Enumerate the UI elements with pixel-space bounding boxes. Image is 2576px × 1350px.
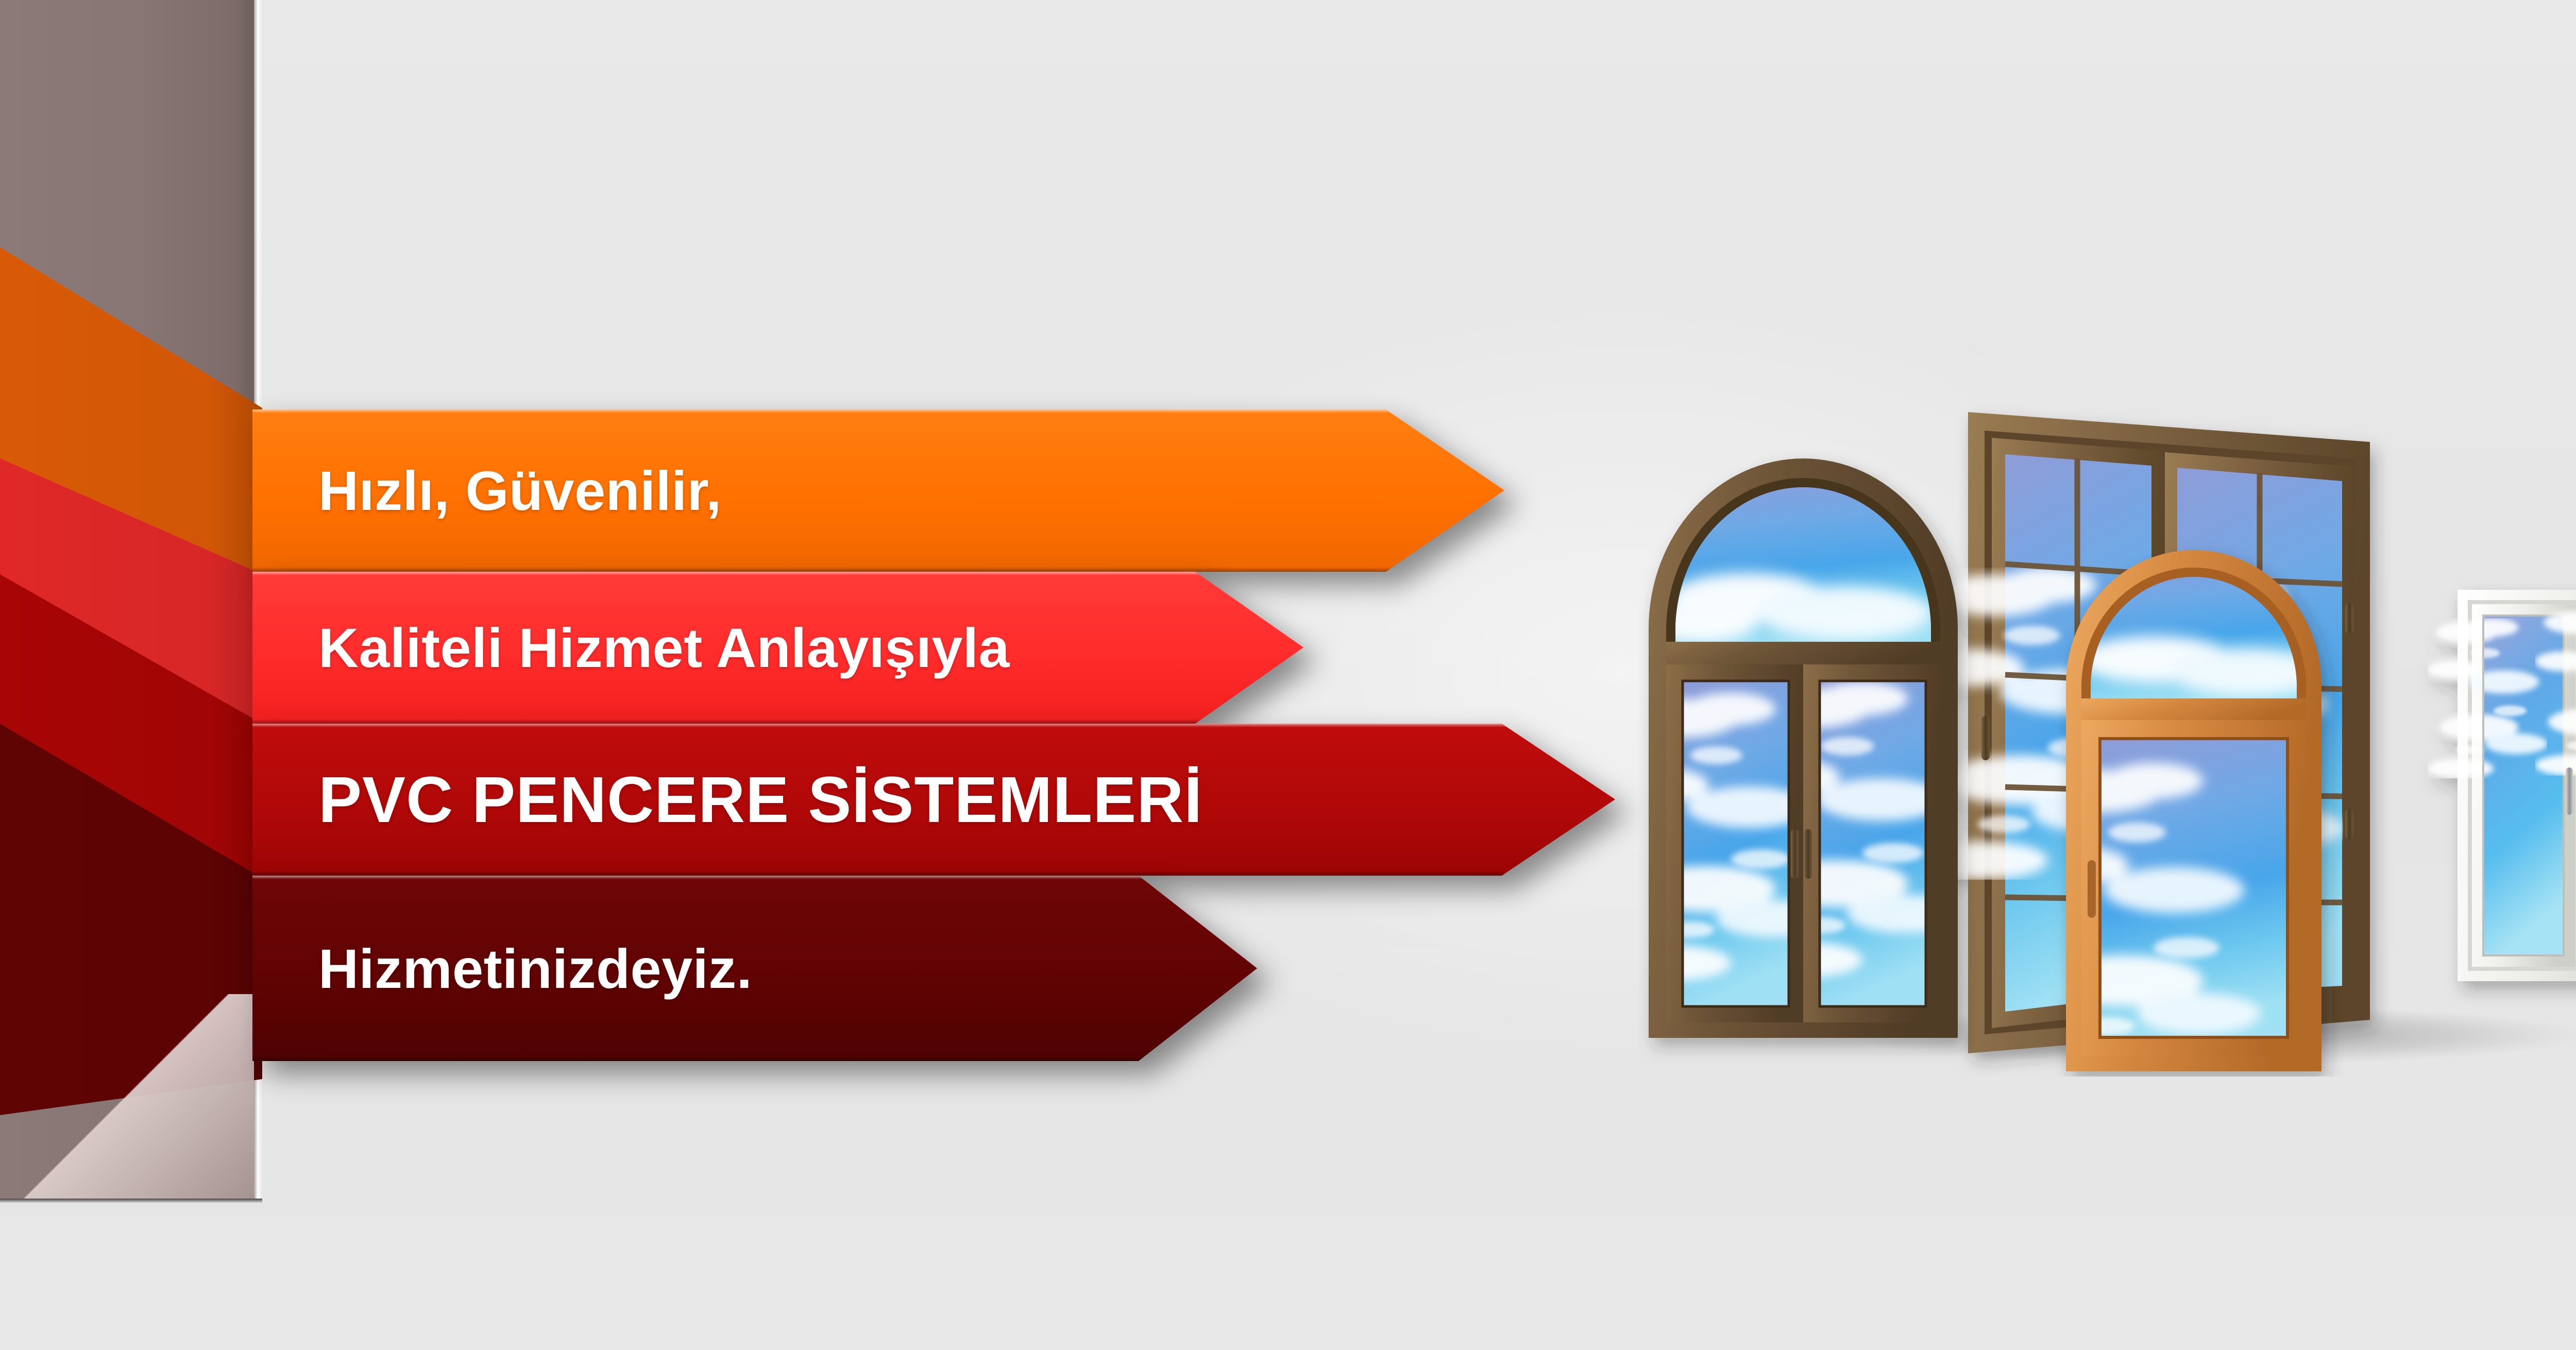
ribbon-hizli-guvenilir: Hızlı, Güvenilir,: [252, 409, 1504, 572]
window-handle: [1791, 829, 1799, 879]
ribbon-2-label: Kaliteli Hizmet Anlayışıyla: [318, 616, 1010, 680]
ribbon-pvc-pencere-sistemleri: PVC PENCERE SİSTEMLERİ: [252, 724, 1615, 876]
window-handle: [2345, 603, 2353, 634]
white-double-window: [2428, 590, 2576, 981]
window-handle: [1804, 829, 1812, 879]
window-handle: [1981, 716, 1990, 760]
window-handle: [2345, 809, 2353, 840]
ribbon-1-label: Hızlı, Güvenilir,: [318, 458, 722, 523]
pvc-window-systems-photo: [1638, 355, 2576, 1076]
ribbon-4-label: Hizmetinizdeyiz.: [318, 936, 752, 1001]
ribbon-3-label: PVC PENCERE SİSTEMLERİ: [318, 762, 1202, 837]
taupe-panel-bottom-shadow: [0, 1199, 262, 1203]
door-handle: [2088, 860, 2096, 918]
taupe-panel-corner-wedge: [0, 994, 254, 1199]
brown-arched-double-window: [1638, 458, 1961, 1038]
ribbon-hizmetinizdeyiz: Hizmetinizdeyiz.: [252, 876, 1257, 1061]
banner-stage: Hızlı, Güvenilir, Kaliteli Hizmet Anlayı…: [0, 0, 2576, 1350]
ribbon-kaliteli-hizmet: Kaliteli Hizmet Anlayışıyla: [252, 572, 1303, 724]
window-handle: [2566, 767, 2573, 815]
